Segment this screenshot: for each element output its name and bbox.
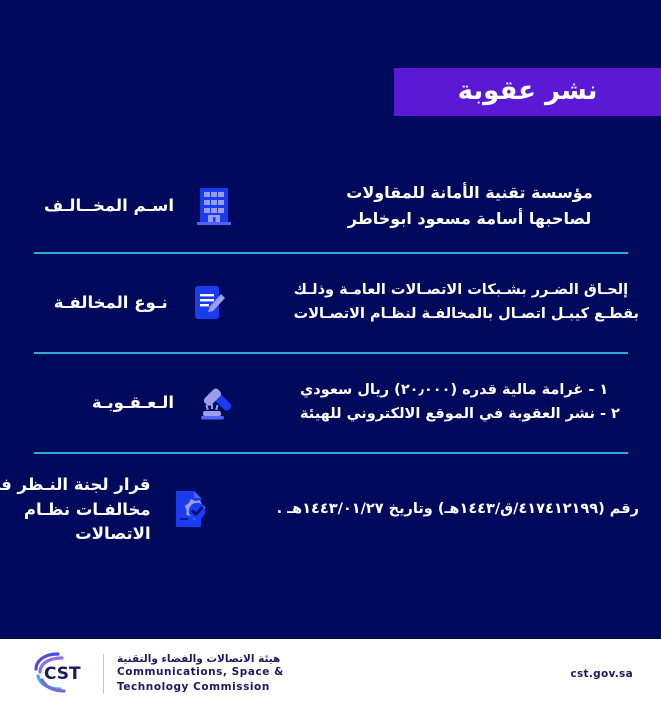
violation-type-value: إلحـاق الضـرر بشـبكات الاتصـالات العامـة…: [294, 279, 639, 327]
org-name-en-line1: Communications, Space &: [117, 666, 284, 680]
row-label-cell: نـوع المخالفـة: [0, 277, 256, 329]
org-name-ar: هيئة الاتصالات والفضاء والتقنية: [117, 653, 284, 665]
violator-name-value: مؤسسة تقنية الأمانة للمقاولات لصاحبها أس…: [300, 180, 639, 233]
table-row: رقم (٤١٧٤١٢١٩٩/ق/١٤٤٣هـ) وتاريخ ١٤٤٣/٠١/…: [0, 454, 661, 566]
row-value-cell: ١ - غرامة مالية قدره (٢٠٫٠٠٠) ريال سعودي…: [264, 379, 661, 427]
building-icon: [188, 180, 240, 232]
violation-details-table: مؤسسة تقنية الأمانة للمقاولات لصاحبها أس…: [0, 160, 661, 566]
row-label-cell: اسـم المخــالـف: [0, 180, 262, 232]
document-pen-icon: [182, 277, 234, 329]
footer: CST هيئة الاتصالات والفضاء والتقنية Comm…: [0, 639, 661, 709]
row-label: الـعـقـوبـة: [0, 391, 174, 415]
row-label: اسـم المخــالـف: [0, 194, 174, 218]
row-value-cell: رقم (٤١٧٤١٢١٩٩/ق/١٤٤٣هـ) وتاريخ ١٤٤٣/٠١/…: [241, 498, 661, 522]
website-url[interactable]: cst.gov.sa: [570, 668, 633, 680]
table-row: ١ - غرامة مالية قدره (٢٠٫٠٠٠) ريال سعودي…: [0, 354, 661, 452]
row-label-cell: الـعـقـوبـة: [0, 377, 262, 429]
penalty-value: ١ - غرامة مالية قدره (٢٠٫٠٠٠) ريال سعودي…: [300, 379, 639, 427]
brand-text: هيئة الاتصالات والفضاء والتقنية Communic…: [117, 653, 284, 695]
header-banner-row: نشر عقوبة: [0, 68, 661, 116]
row-label-cell: قرار لجنة النـظر في مخالفـات نظـام الاتص…: [0, 473, 239, 547]
table-row: إلحـاق الضـرر بشـبكات الاتصـالات العامـة…: [0, 254, 661, 352]
row-value-cell: مؤسسة تقنية الأمانة للمقاولات لصاحبها أس…: [264, 180, 661, 233]
brand-separator: [103, 654, 104, 694]
cst-logo-icon: CST: [28, 650, 90, 698]
svg-text:CST: CST: [44, 664, 81, 684]
header-banner: نشر عقوبة: [394, 68, 661, 116]
row-value-cell: إلحـاق الضـرر بشـبكات الاتصـالات العامـة…: [258, 279, 661, 327]
verified-document-icon: [165, 484, 217, 536]
org-name-en-line2: Technology Commission: [117, 681, 284, 695]
gavel-icon: [188, 377, 240, 429]
table-row: مؤسسة تقنية الأمانة للمقاولات لصاحبها أس…: [0, 160, 661, 252]
decision-reference-value: رقم (٤١٧٤١٢١٩٩/ق/١٤٤٣هـ) وتاريخ ١٤٤٣/٠١/…: [277, 498, 639, 522]
row-label: نـوع المخالفـة: [0, 291, 168, 315]
brand-lockup: CST هيئة الاتصالات والفضاء والتقنية Comm…: [28, 650, 284, 698]
page-title: نشر عقوبة: [458, 78, 598, 107]
row-label: قرار لجنة النـظر في مخالفـات نظـام الاتص…: [0, 473, 151, 547]
